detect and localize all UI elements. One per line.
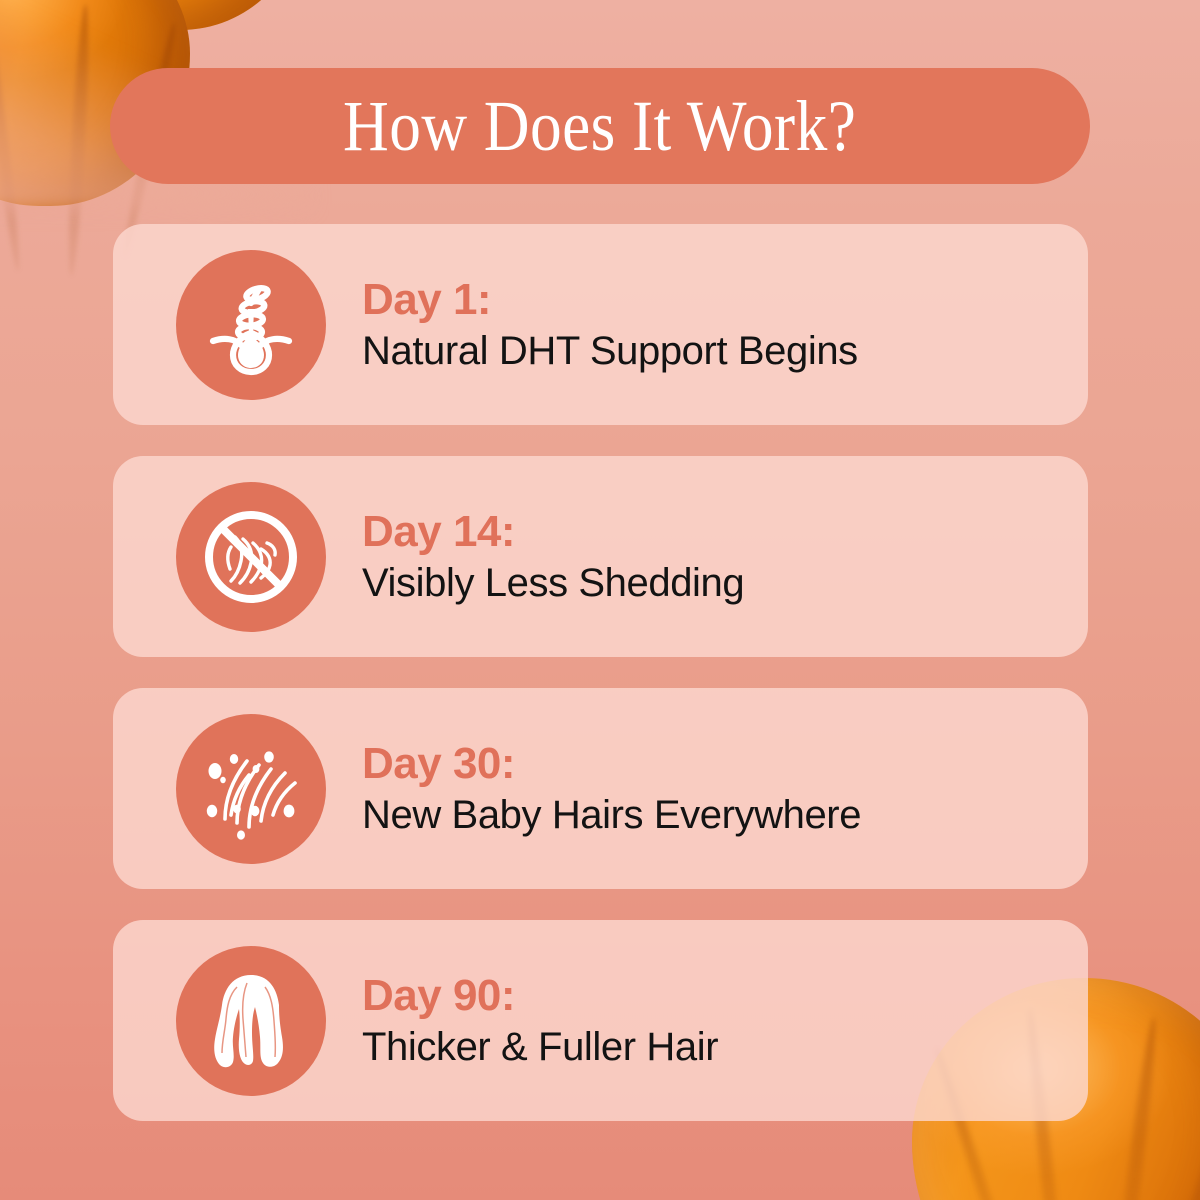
step-day-label: Day 1: [362, 277, 1088, 324]
step-description: Visibly Less Shedding [362, 560, 1088, 606]
long-hair-icon [176, 946, 326, 1096]
step-text-block: Day 90: Thicker & Fuller Hair [362, 971, 1088, 1070]
promo-poster: How Does It Work? [0, 0, 1200, 1200]
step-day-label: Day 30: [362, 741, 1088, 788]
step-text-block: Day 1: Natural DHT Support Begins [362, 275, 1088, 374]
step-day-label: Day 90: [362, 973, 1088, 1020]
pumpkin-rib [1157, 1053, 1200, 1200]
pumpkin-rib [65, 4, 92, 276]
timeline-steps-list: Day 1: Natural DHT Support Begins [113, 224, 1088, 1121]
step-day-label: Day 14: [362, 509, 1088, 556]
scalp-new-growth-icon [176, 714, 326, 864]
timeline-step-card: Day 1: Natural DHT Support Begins [113, 224, 1088, 425]
timeline-step-card: Day 14: Visibly Less Shedding [113, 456, 1088, 657]
no-shedding-icon [176, 482, 326, 632]
step-description: New Baby Hairs Everywhere [362, 792, 1088, 838]
page-title: How Does It Work? [343, 90, 856, 162]
step-text-block: Day 30: New Baby Hairs Everywhere [362, 739, 1088, 838]
timeline-step-card: Day 30: New Baby Hairs Everywhere [113, 688, 1088, 889]
step-description: Thicker & Fuller Hair [362, 1024, 1088, 1070]
pumpkin-lobe-upper [36, 0, 304, 30]
pumpkin-rib [1109, 1016, 1161, 1200]
hair-follicle-icon [176, 250, 326, 400]
step-text-block: Day 14: Visibly Less Shedding [362, 507, 1088, 606]
step-description: Natural DHT Support Begins [362, 328, 1088, 374]
timeline-step-card: Day 90: Thicker & Fuller Hair [113, 920, 1088, 1121]
pumpkin-rib [0, 10, 24, 272]
title-banner: How Does It Work? [110, 68, 1090, 184]
